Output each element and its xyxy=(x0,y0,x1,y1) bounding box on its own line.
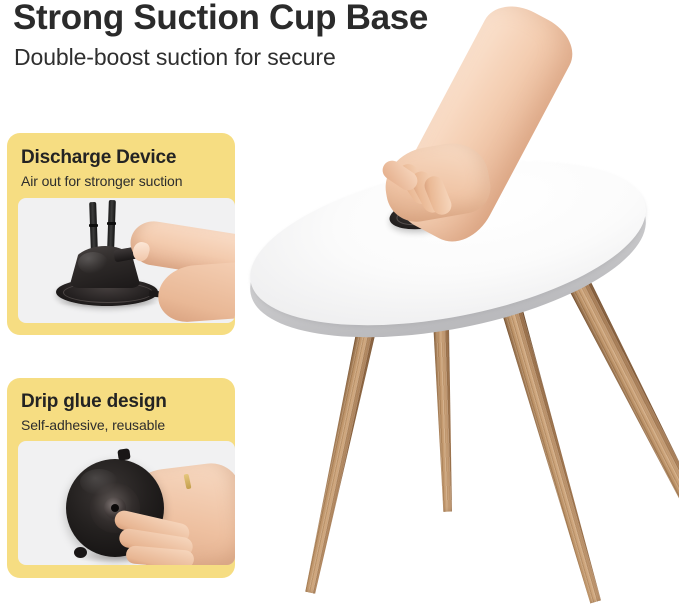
product-hero-image xyxy=(243,58,679,596)
hand-lower-part xyxy=(156,260,235,323)
suction-cup-lug xyxy=(74,547,87,558)
suction-cup-gloss xyxy=(80,469,118,495)
callout-subtitle-discharge: Air out for stronger suction xyxy=(21,173,182,189)
table-leg-stem-icon xyxy=(107,200,116,250)
callout-photo-drip-glue-design xyxy=(18,441,235,565)
stem-band-icon xyxy=(107,222,116,225)
page-title: Strong Suction Cup Base xyxy=(13,0,428,38)
stem-band-icon xyxy=(89,224,98,227)
callout-subtitle-drip-glue: Self-adhesive, reusable xyxy=(21,417,165,433)
suction-cup-lug xyxy=(117,448,130,461)
callout-title-drip-glue: Drip glue design xyxy=(21,391,167,413)
callout-title-discharge: Discharge Device xyxy=(21,147,176,169)
suction-cup-highlight xyxy=(78,252,108,274)
callout-card-drip-glue-design: Drip glue design Self-adhesive, reusable xyxy=(7,378,235,578)
suction-cup-center-dot xyxy=(111,504,119,512)
callout-card-discharge-device: Discharge Device Air out for stronger su… xyxy=(7,133,235,335)
callout-photo-discharge-device xyxy=(18,198,235,323)
